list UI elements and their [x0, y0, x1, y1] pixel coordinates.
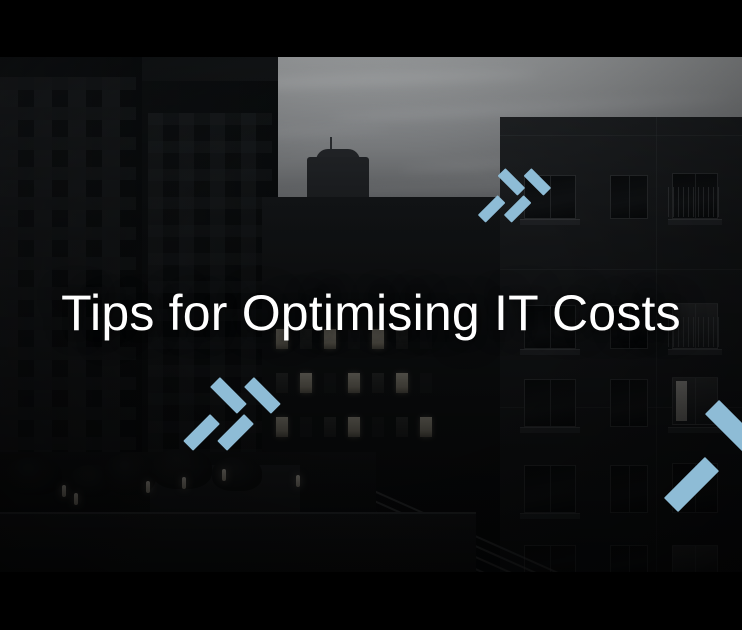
chevron-arm [244, 377, 281, 414]
single-chevron-icon [700, 405, 742, 495]
lit-window-row [276, 417, 432, 437]
chevron-arm [498, 168, 526, 196]
terrace-shrub [6, 457, 62, 495]
lit-window [396, 373, 408, 393]
apartment-window [524, 379, 576, 427]
window-curtain [676, 381, 687, 421]
letterbox-bar-bottom [0, 572, 742, 630]
facade-seam [500, 135, 742, 136]
double-chevron-icon [206, 380, 278, 436]
terrace-lamp [222, 469, 226, 481]
apartment-window [610, 175, 648, 219]
apartment-window [610, 465, 648, 513]
terrace-lamp [74, 493, 78, 505]
presentation-slide: Tips for Optimising IT Costs [0, 0, 742, 630]
balcony [520, 219, 580, 225]
double-chevron-icon [494, 170, 554, 212]
terrace-lamp [62, 485, 66, 497]
balcony-railing [668, 187, 722, 217]
slide-title: Tips for Optimising IT Costs [0, 283, 742, 343]
lit-window [420, 373, 432, 393]
lit-window-row [276, 373, 432, 393]
lit-window [420, 417, 432, 437]
lit-window [372, 417, 384, 437]
lit-window [372, 373, 384, 393]
terrace-shrub [212, 457, 262, 491]
chevron-arm [210, 377, 247, 414]
apartment-window [672, 545, 718, 572]
letterbox-bar-top [0, 0, 742, 57]
terrace-lamp [296, 475, 300, 487]
terrace-parapet [0, 512, 476, 572]
terrace-parapet-edge [0, 512, 476, 514]
lit-window [348, 373, 360, 393]
chevron-arm [705, 400, 742, 455]
lit-window [300, 373, 312, 393]
balcony [520, 513, 580, 519]
lit-window [300, 417, 312, 437]
apartment-window [610, 545, 648, 572]
lit-window [324, 373, 336, 393]
lit-window [324, 417, 336, 437]
facade-seam [656, 117, 657, 572]
lit-window [348, 417, 360, 437]
apartment-window [610, 379, 648, 427]
balcony [668, 349, 722, 355]
balcony [520, 427, 580, 433]
balcony [520, 349, 580, 355]
balcony [668, 219, 722, 225]
facade-seam [500, 269, 742, 270]
terrace-lamp [146, 481, 150, 493]
lit-window [396, 417, 408, 437]
apartment-window [524, 465, 576, 513]
chevron-arm [524, 168, 552, 196]
terrace-lamp [182, 477, 186, 489]
